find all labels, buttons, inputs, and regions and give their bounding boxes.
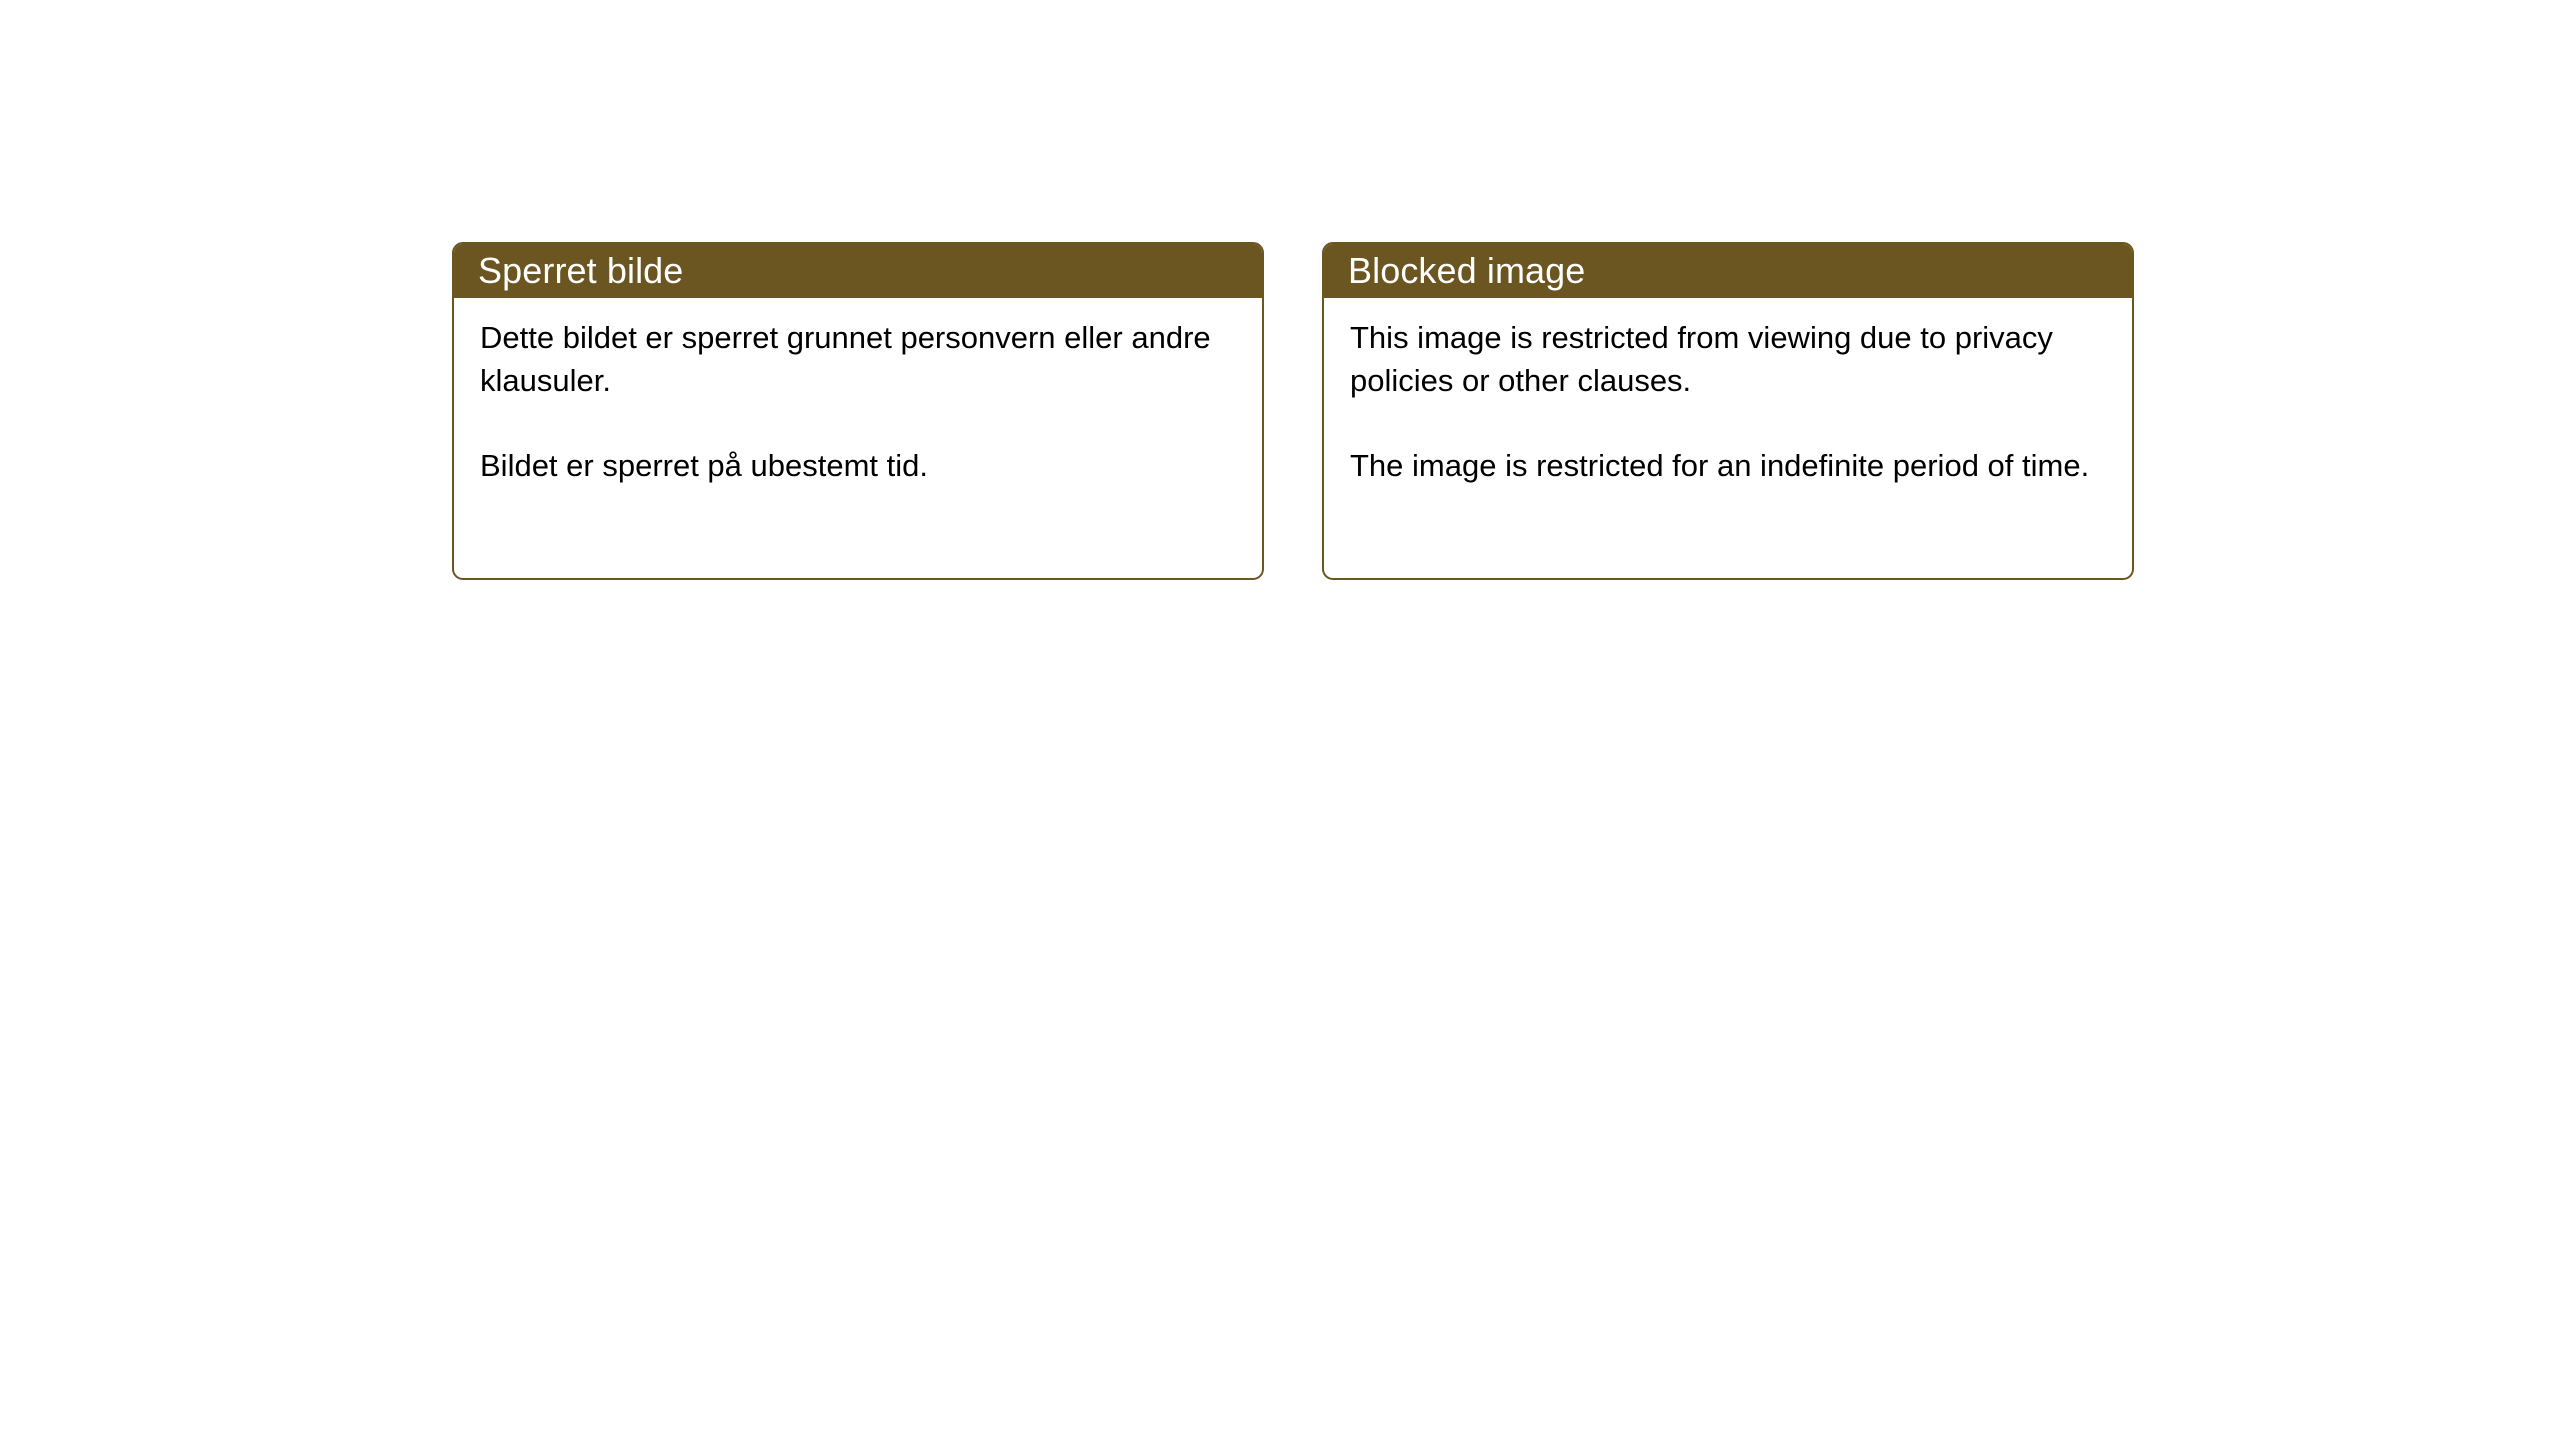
card-header-english: Blocked image bbox=[1324, 244, 2132, 298]
card-title-english: Blocked image bbox=[1348, 251, 1585, 291]
blocked-image-notice-card-norwegian: Sperret bilde Dette bildet er sperret gr… bbox=[452, 242, 1264, 580]
card-paragraph-privacy-norwegian: Dette bildet er sperret grunnet personve… bbox=[480, 316, 1220, 402]
card-body-norwegian: Dette bildet er sperret grunnet personve… bbox=[454, 298, 1262, 487]
card-paragraph-duration-english: The image is restricted for an indefinit… bbox=[1350, 444, 2090, 487]
card-paragraph-duration-norwegian: Bildet er sperret på ubestemt tid. bbox=[480, 444, 1220, 487]
card-body-english: This image is restricted from viewing du… bbox=[1324, 298, 2132, 487]
card-paragraph-privacy-english: This image is restricted from viewing du… bbox=[1350, 316, 2090, 402]
blocked-image-notice-card-english: Blocked image This image is restricted f… bbox=[1322, 242, 2134, 580]
card-title-norwegian: Sperret bilde bbox=[478, 251, 683, 291]
page-root: Sperret bilde Dette bildet er sperret gr… bbox=[0, 0, 2560, 1440]
card-header-norwegian: Sperret bilde bbox=[454, 244, 1262, 298]
